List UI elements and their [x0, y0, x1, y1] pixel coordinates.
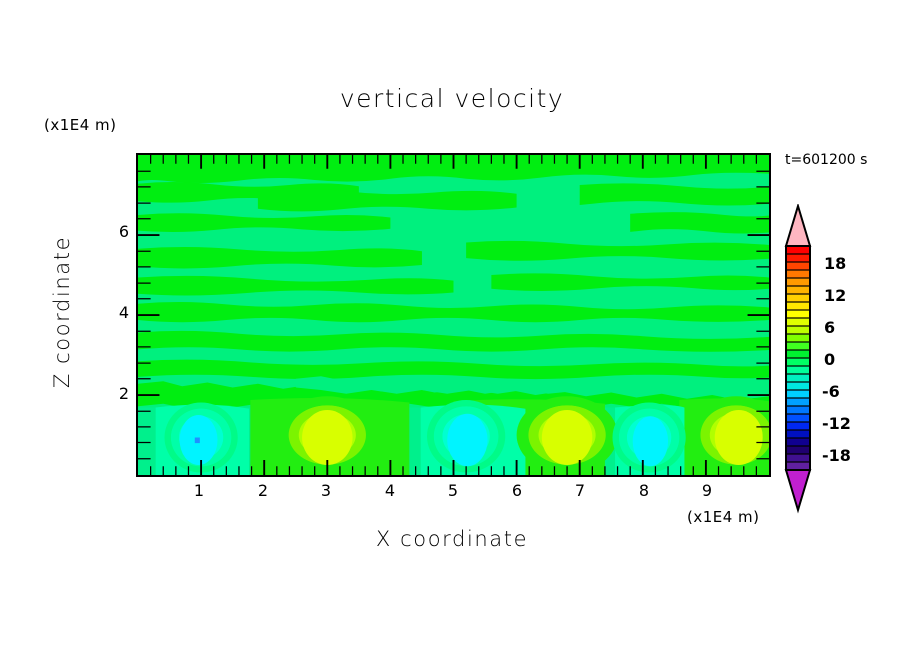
colorbar-tick-label: -12 — [822, 414, 851, 433]
colorbar-band — [786, 262, 810, 271]
colorbar-under-arrow — [786, 470, 810, 510]
xtick-label: 8 — [629, 481, 659, 500]
colorbar-band — [786, 334, 810, 343]
timestamp-annotation: t=601200 s — [785, 152, 867, 168]
colorbar-band — [786, 446, 810, 455]
colorbar-band — [786, 342, 810, 351]
colorbar-tick-label: 0 — [824, 350, 835, 369]
ytick-label: 6 — [103, 222, 129, 241]
colorbar-band — [786, 318, 810, 327]
colorbar-band — [786, 414, 810, 423]
colorbar-band — [786, 270, 810, 279]
y-axis-title: Z coordinate — [50, 222, 74, 402]
colorbar-band — [786, 422, 810, 431]
xtick-label: 4 — [375, 481, 405, 500]
xtick-label: 2 — [248, 481, 278, 500]
figure-root: vertical velocity (x1E4 m) t=601200 s — [0, 0, 904, 654]
colorbar-band — [786, 294, 810, 303]
contour-plot-area — [136, 153, 771, 477]
colorbar: 18 12 6 0 -6 -12 -18 — [780, 204, 816, 518]
ytick-label: 4 — [103, 303, 129, 322]
colorbar-band — [786, 326, 810, 335]
colorbar-tick-label: -6 — [822, 382, 840, 401]
xtick-label: 7 — [565, 481, 595, 500]
x-axis-unit-label: (x1E4 m) — [687, 508, 760, 526]
z-axis-unit-label: (x1E4 m) — [44, 116, 117, 134]
xtick-label: 5 — [438, 481, 468, 500]
contour-field — [138, 155, 769, 475]
colorbar-tick-label: 6 — [824, 318, 835, 337]
colorbar-tick-label: 18 — [824, 254, 846, 273]
colorbar-band — [786, 278, 810, 287]
x-axis-title: X coordinate — [0, 527, 904, 551]
colorbar-band — [786, 366, 810, 375]
page-title: vertical velocity — [0, 84, 904, 113]
colorbar-band — [786, 302, 810, 311]
colorbar-band — [786, 406, 810, 415]
xtick-label: 9 — [692, 481, 722, 500]
colorbar-band — [786, 454, 810, 463]
colorbar-band — [786, 310, 810, 319]
colorbar-band — [786, 390, 810, 399]
colorbar-band — [786, 254, 810, 263]
colorbar-band — [786, 350, 810, 359]
colorbar-band — [786, 430, 810, 439]
colorbar-band — [786, 286, 810, 295]
colorbar-band — [786, 358, 810, 367]
colorbar-band — [786, 374, 810, 383]
colorbar-band — [786, 382, 810, 391]
colorbar-swatches — [780, 204, 816, 514]
colorbar-tick-label: 12 — [824, 286, 846, 305]
ytick-label: 2 — [103, 384, 129, 403]
xtick-label: 1 — [184, 481, 214, 500]
colorbar-tick-label: -18 — [822, 446, 851, 465]
xtick-label: 6 — [502, 481, 532, 500]
xtick-label: 3 — [311, 481, 341, 500]
colorbar-band — [786, 246, 810, 255]
colorbar-over-arrow — [786, 206, 810, 246]
colorbar-band — [786, 438, 810, 447]
colorbar-band — [786, 398, 810, 407]
